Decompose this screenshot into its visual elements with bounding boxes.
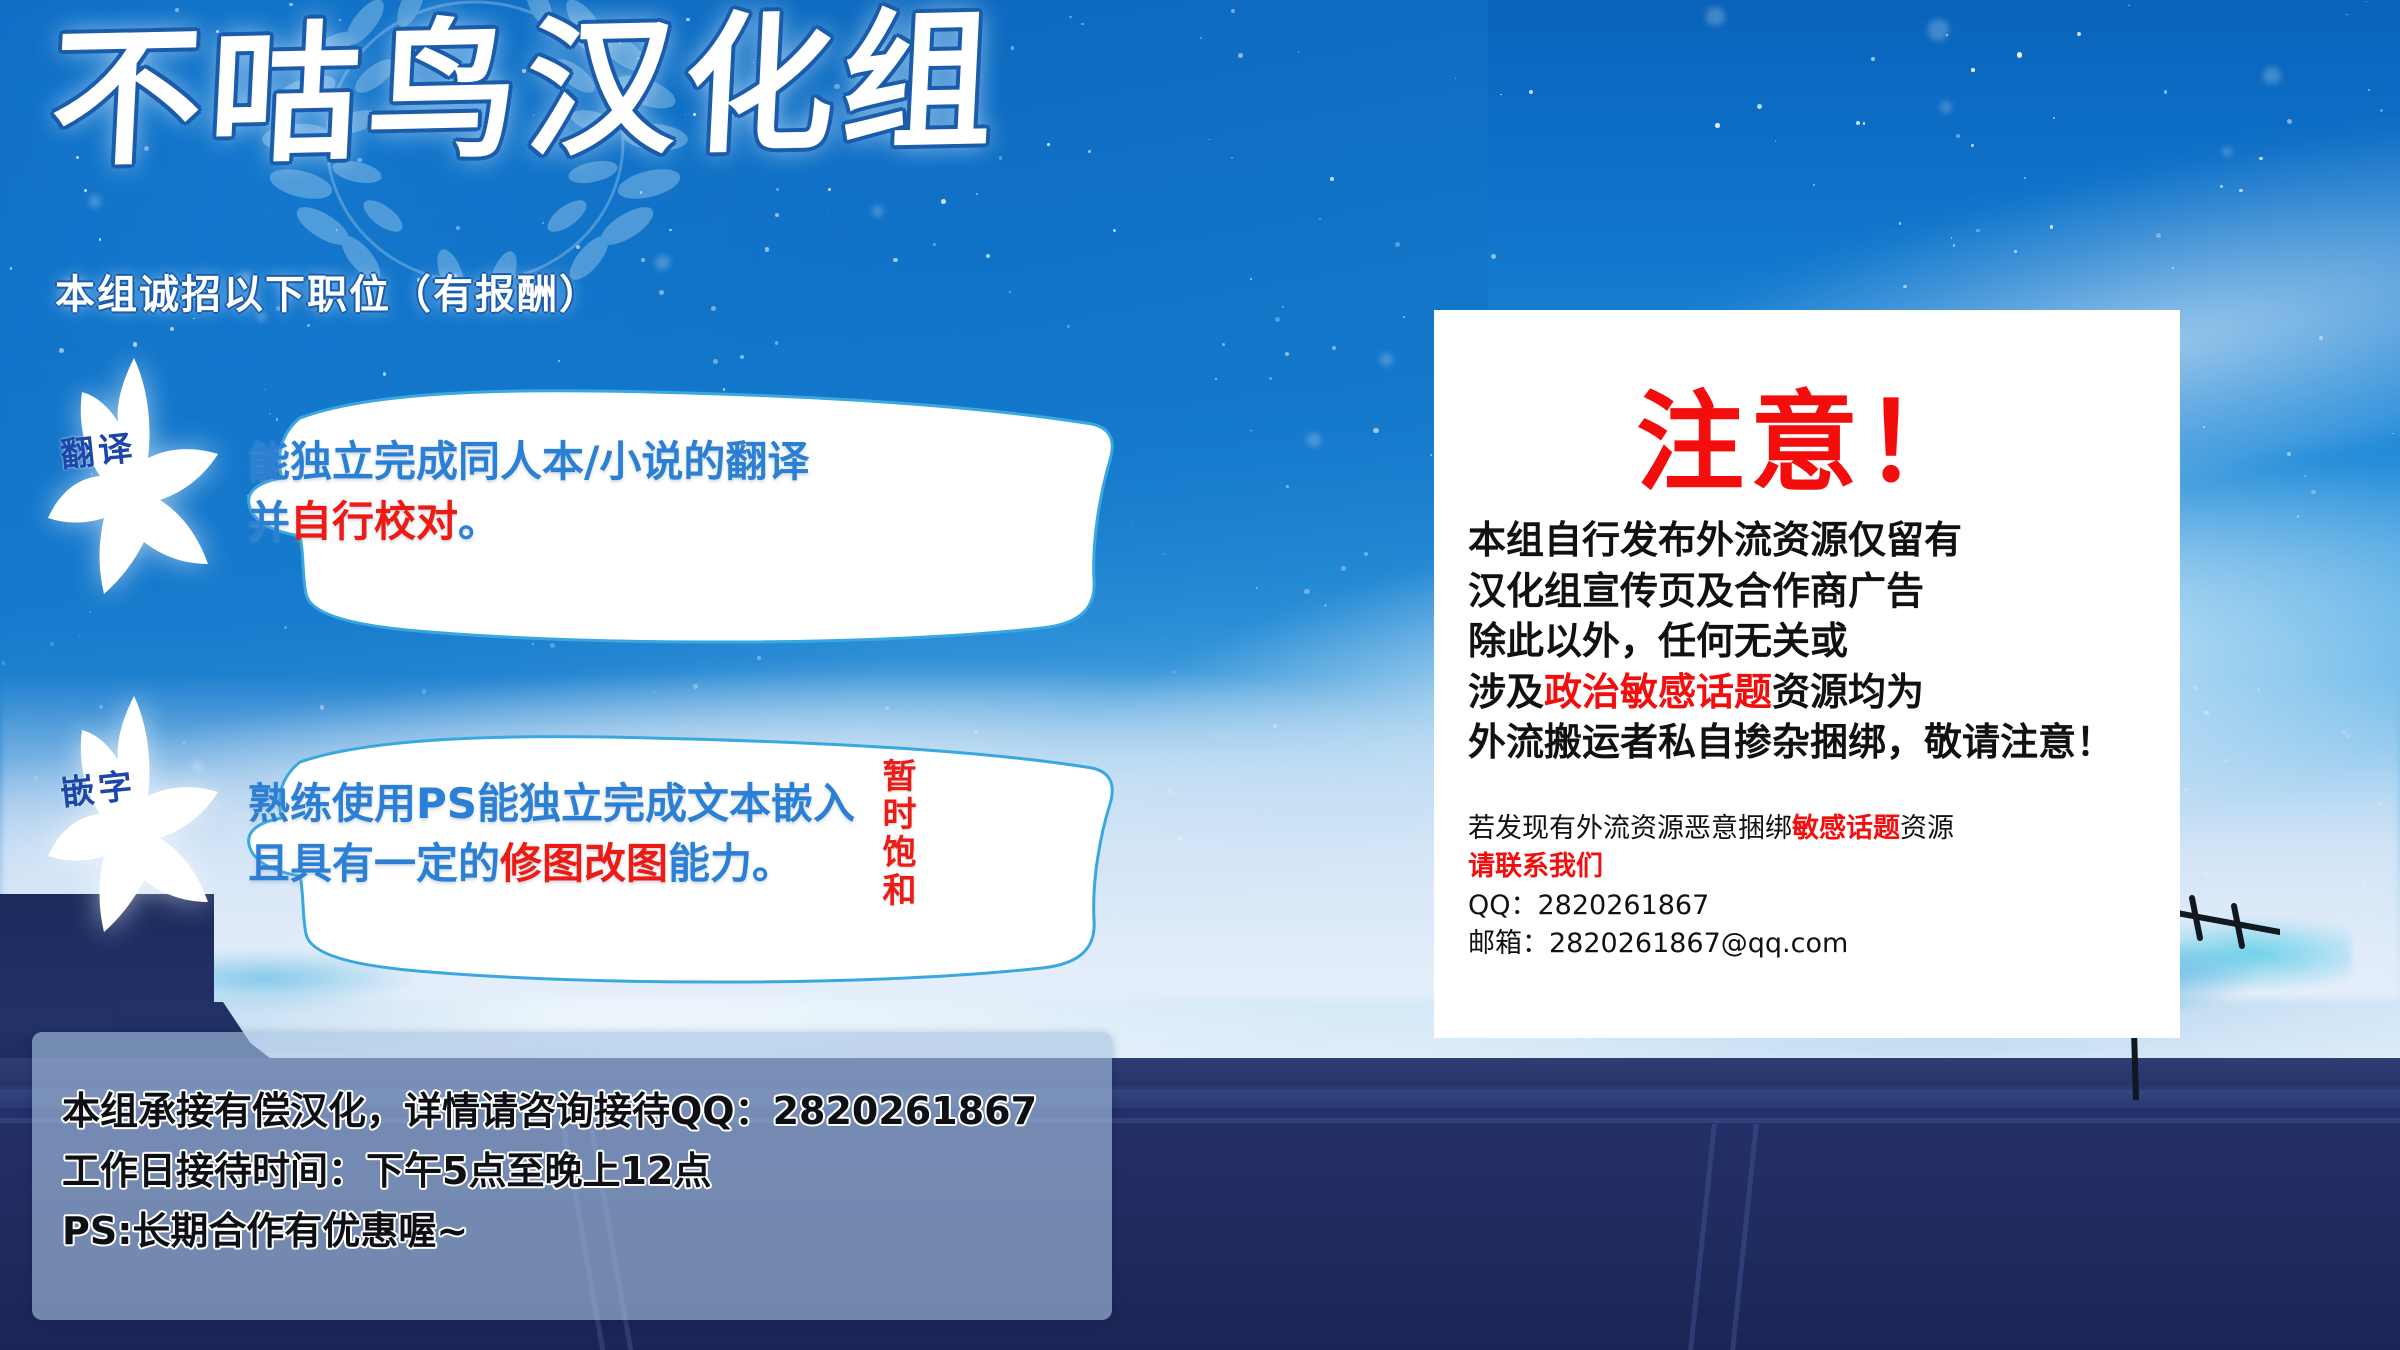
bubble-text-typesetter: 熟练使用PS能独立完成文本嵌入 且具有一定的修图改图能力。 bbox=[248, 774, 855, 893]
poster-canvas: 不咕鸟汉化组 本组诚招以下职位（有报酬） bbox=[0, 0, 2400, 1350]
notice-warning-line: 若发现有外流资源恶意捆绑敏感话题资源 bbox=[1468, 810, 2166, 848]
service-info-line-1: 本组承接有偿汉化，详情请咨询接待QQ：2820261867 bbox=[62, 1080, 1037, 1135]
notice-title: 注意！ bbox=[1434, 356, 2180, 512]
bubble-text-translator: 能独立完成同人本/小说的翻译 并自行校对。 bbox=[248, 432, 809, 551]
notice-body: 本组自行发布外流资源仅留有 汉化组宣传页及合作商广告 除此以外，任何无关或 涉及… bbox=[1468, 515, 2160, 768]
saturated-note: 暂时饱和 bbox=[872, 758, 921, 910]
speech-bubble-typesetter: 熟练使用PS能独立完成文本嵌入 且具有一定的修图改图能力。 暂时饱和 bbox=[180, 730, 1120, 990]
page-title: 不咕鸟汉化组 bbox=[48, 6, 1005, 176]
service-info-line-3: PS:长期合作有优惠喔~ bbox=[62, 1200, 468, 1255]
notice-contact-cta: 请联系我们 bbox=[1468, 848, 2166, 886]
dove-label-typesetter: 嵌字 bbox=[58, 758, 139, 815]
notice-contact-block: 若发现有外流资源恶意捆绑敏感话题资源 请联系我们 QQ：2820261867 邮… bbox=[1468, 810, 2166, 963]
dove-label-translator: 翻译 bbox=[58, 420, 139, 477]
service-info-panel: 本组承接有偿汉化，详情请咨询接待QQ：2820261867 工作日接待时间：下午… bbox=[32, 1032, 1112, 1320]
notice-email: 邮箱：2820261867@qq.com bbox=[1468, 925, 2166, 963]
notice-qq: QQ：2820261867 bbox=[1468, 887, 2166, 925]
speech-bubble-translator: 能独立完成同人本/小说的翻译 并自行校对。 bbox=[180, 382, 1120, 652]
service-info-line-2: 工作日接待时间：下午5点至晚上12点 bbox=[62, 1140, 711, 1195]
notice-panel: 注意！ 本组自行发布外流资源仅留有 汉化组宣传页及合作商广告 除此以外，任何无关… bbox=[1434, 310, 2180, 1038]
page-subtitle: 本组诚招以下职位（有报酬） bbox=[55, 262, 601, 320]
